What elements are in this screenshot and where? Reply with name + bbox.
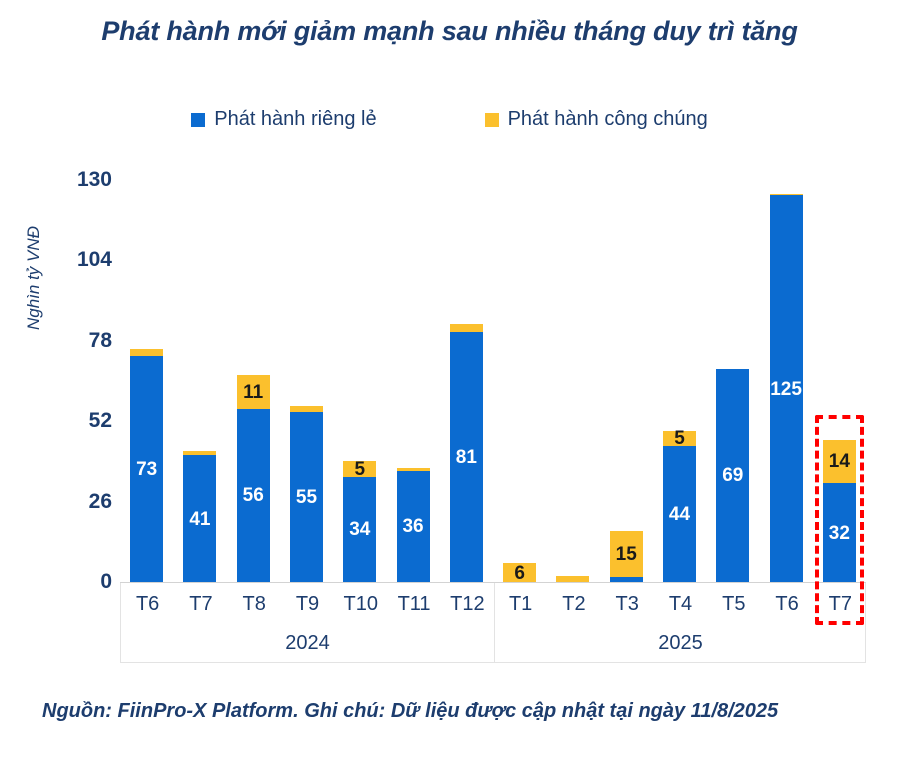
x-axis-month-label[interactable]: T11 [387, 583, 440, 625]
bar-segment-private[interactable]: 69 [716, 369, 749, 582]
bar-segment-public[interactable]: 5 [663, 431, 696, 446]
x-axis-month-label[interactable]: T7 [814, 583, 867, 625]
legend-item-public[interactable]: Phát hành công chúng [485, 108, 708, 131]
bar-group[interactable]: 81 [450, 324, 483, 582]
legend-label-private: Phát hành riêng lẻ [214, 108, 376, 131]
bar-group[interactable]: 55 [290, 406, 323, 582]
bar-value-label-private: 55 [290, 487, 323, 509]
bar-value-label-public: 15 [610, 544, 643, 566]
x-axis-year-label: 2024 [121, 625, 494, 662]
bar-value-label-private: 125 [770, 379, 803, 401]
bar-segment-public[interactable]: 14 [823, 440, 856, 483]
bar-value-label-public: 14 [823, 451, 856, 473]
bar-group[interactable]: 445 [663, 430, 696, 582]
y-tick-label: 78 [89, 329, 112, 353]
source-note: Nguồn: FiinPro-X Platform. Ghi chú: Dữ l… [42, 700, 778, 723]
bar-value-label-private: 34 [343, 519, 376, 541]
bar-segment-private[interactable]: 34 [343, 477, 376, 582]
bar-segment-public[interactable]: 5 [343, 461, 376, 476]
x-axis-month-label[interactable]: T3 [601, 583, 654, 625]
x-axis-month-label[interactable]: T6 [760, 583, 813, 625]
bar-segment-public[interactable]: 11 [237, 375, 270, 409]
bar-value-label-private: 81 [450, 447, 483, 469]
bar-segment-public[interactable]: 6 [503, 563, 536, 582]
x-axis-month-row: T6T7T8T9T10T11T12T1T2T3T4T5T6T7 [121, 583, 865, 625]
x-axis-month-label[interactable]: T9 [281, 583, 334, 625]
bar-segment-private[interactable]: 55 [290, 412, 323, 582]
plot-area: 73415611553453681615445691253214 [120, 180, 866, 582]
bar-group[interactable]: 125 [770, 194, 803, 582]
bar-segment-private[interactable]: 81 [450, 332, 483, 582]
bar-group[interactable]: 5611 [237, 375, 270, 582]
bar-value-label-private: 69 [716, 465, 749, 487]
chart-container: Phát hành mới giảm mạnh sau nhiều tháng … [0, 0, 899, 771]
bar-group[interactable]: 69 [716, 369, 749, 582]
y-tick-label: 52 [89, 409, 112, 433]
chart-title: Phát hành mới giảm mạnh sau nhiều tháng … [0, 16, 899, 47]
bar-segment-private[interactable]: 125 [770, 195, 803, 582]
bar-value-label-private: 44 [663, 504, 696, 526]
legend-swatch-yellow-icon [485, 113, 499, 127]
x-axis-year-label: 2025 [494, 625, 867, 662]
bar-segment-public[interactable] [770, 194, 803, 196]
bar-segment-private[interactable]: 41 [183, 455, 216, 582]
bar-value-label-public: 11 [237, 382, 270, 404]
legend-item-private[interactable]: Phát hành riêng lẻ [191, 108, 376, 131]
x-axis-month-label[interactable]: T4 [654, 583, 707, 625]
x-axis-month-label[interactable]: T12 [441, 583, 494, 625]
y-tick-label: 26 [89, 490, 112, 514]
bar-group[interactable]: 41 [183, 451, 216, 582]
y-axis-title: Nghìn tỷ VNĐ [24, 226, 44, 330]
legend-label-public: Phát hành công chúng [508, 108, 708, 131]
x-axis-year-row: 20242025 [121, 625, 865, 662]
bar-segment-private[interactable]: 36 [397, 471, 430, 582]
y-tick-label: 130 [77, 168, 112, 192]
bar-segment-private[interactable]: 56 [237, 409, 270, 582]
x-axis-table: T6T7T8T9T10T11T12T1T2T3T4T5T6T7 20242025 [120, 583, 866, 663]
y-tick-label: 104 [77, 248, 112, 272]
bar-segment-public[interactable] [450, 324, 483, 332]
y-axis: 1301047852260 [40, 180, 112, 582]
bar-group[interactable]: 15 [610, 531, 643, 582]
year-group-divider [494, 583, 495, 662]
x-axis-month-label[interactable]: T8 [228, 583, 281, 625]
bar-segment-private[interactable]: 44 [663, 446, 696, 582]
chart-legend: Phát hành riêng lẻ Phát hành công chúng [0, 108, 899, 131]
bar-segment-private[interactable]: 73 [130, 356, 163, 582]
x-axis-month-label[interactable]: T1 [494, 583, 547, 625]
y-tick-label: 0 [100, 570, 112, 594]
bar-group[interactable]: 6 [503, 563, 536, 582]
bar-value-label-private: 41 [183, 509, 216, 531]
bar-group[interactable]: 3214 [823, 440, 856, 582]
bar-value-label-private: 36 [397, 516, 430, 538]
x-axis-month-label[interactable]: T2 [547, 583, 600, 625]
legend-swatch-blue-icon [191, 113, 205, 127]
bar-value-label-private: 32 [823, 523, 856, 545]
x-axis-month-label[interactable]: T10 [334, 583, 387, 625]
x-axis-month-label[interactable]: T5 [707, 583, 760, 625]
bar-group[interactable]: 36 [397, 468, 430, 582]
bar-segment-public[interactable] [130, 349, 163, 357]
bar-segment-public[interactable] [183, 451, 216, 456]
bars-layer: 73415611553453681615445691253214 [120, 180, 866, 582]
bar-value-label-private: 73 [130, 459, 163, 481]
bar-group[interactable]: 73 [130, 349, 163, 582]
bar-value-label-private: 56 [237, 485, 270, 507]
x-axis-month-label[interactable]: T7 [174, 583, 227, 625]
bar-segment-public[interactable] [290, 406, 323, 412]
bar-segment-private[interactable]: 32 [823, 483, 856, 582]
x-axis-month-label[interactable]: T6 [121, 583, 174, 625]
bar-segment-public[interactable] [397, 468, 430, 470]
bar-group[interactable]: 345 [343, 461, 376, 582]
bar-segment-public[interactable]: 15 [610, 531, 643, 577]
